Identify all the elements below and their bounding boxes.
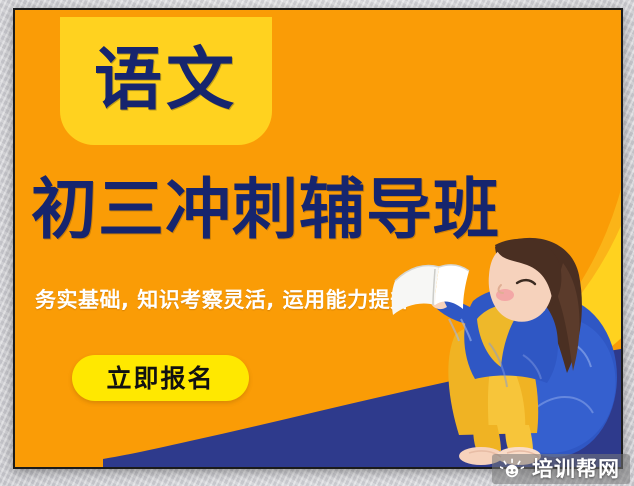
sun-face-icon — [500, 458, 524, 480]
screenshot-root: 语文 初三冲刺辅导班 务实基础, 知识考察灵活, 运用能力提升 立即报名 — [0, 0, 634, 486]
enroll-now-button-label: 立即报名 — [106, 366, 214, 391]
poster-subtitle: 务实基础, 知识考察灵活, 运用能力提升 — [35, 290, 412, 311]
subject-badge: 语文 — [60, 17, 272, 145]
reading-woman-illustration — [377, 227, 623, 467]
site-watermark-label: 培训帮网 — [532, 459, 620, 480]
course-poster: 语文 初三冲刺辅导班 务实基础, 知识考察灵活, 运用能力提升 立即报名 — [13, 8, 623, 469]
enroll-now-button[interactable]: 立即报名 — [72, 355, 249, 401]
subject-badge-label: 语文 — [94, 47, 238, 115]
site-watermark: 培训帮网 — [492, 454, 630, 484]
